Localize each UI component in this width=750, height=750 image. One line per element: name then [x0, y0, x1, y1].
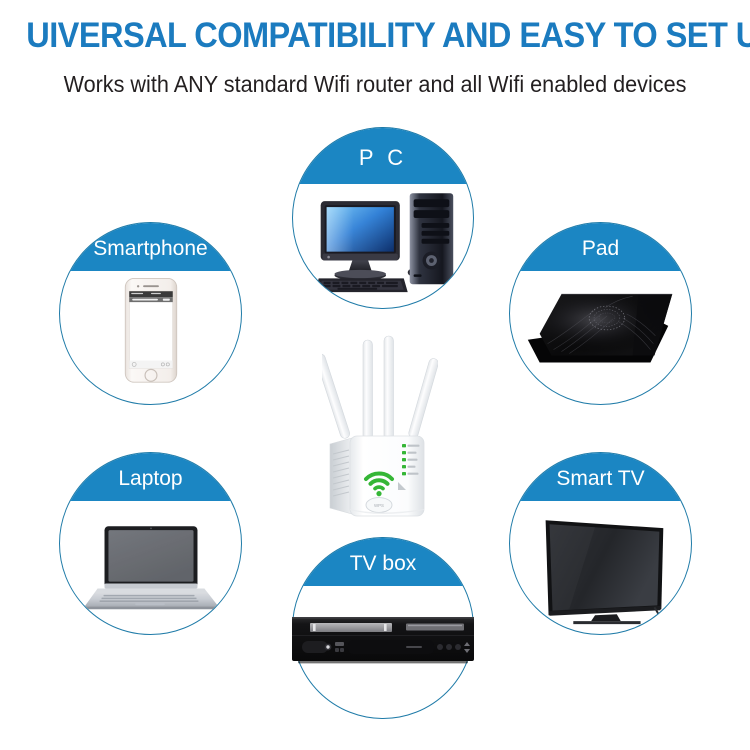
television-icon	[510, 453, 691, 634]
wps-button-label: WPS	[374, 503, 384, 508]
desktop-computer-icon	[293, 128, 473, 308]
device-node-smartphone: Smartphone	[59, 222, 242, 405]
device-label-tvbox: TV box	[350, 552, 417, 576]
device-label-badge-tvbox: TV box	[293, 538, 473, 586]
laptop-icon	[60, 453, 241, 634]
device-circle-laptop[interactable]: Laptop	[59, 452, 242, 635]
wps-button[interactable]: WPS	[366, 498, 392, 513]
device-node-tvbox: TV box	[292, 537, 474, 719]
device-circle-pc[interactable]: P C	[292, 127, 474, 309]
device-node-pad: Pad	[509, 222, 692, 405]
wifi-range-extender: WPS	[322, 332, 438, 522]
page-title: UIVERSAL COMPATIBILITY AND EASY TO SET U…	[26, 18, 724, 53]
page-subtitle: Works with ANY standard Wifi router and …	[23, 72, 728, 97]
smartphone-icon	[60, 223, 241, 404]
device-node-laptop: Laptop	[59, 452, 242, 635]
device-circle-smartphone[interactable]: Smartphone	[59, 222, 242, 405]
device-node-pc: P C	[292, 127, 474, 309]
tablet-pad-icon	[510, 223, 691, 404]
device-circle-smarttv[interactable]: Smart TV	[509, 452, 692, 635]
device-circle-pad[interactable]: Pad	[509, 222, 692, 405]
wifi-extender-illustration: WPS	[322, 332, 438, 522]
tv-box-icon	[284, 613, 482, 669]
infographic-canvas: UIVERSAL COMPATIBILITY AND EASY TO SET U…	[0, 0, 750, 750]
device-node-smarttv: Smart TV	[509, 452, 692, 635]
